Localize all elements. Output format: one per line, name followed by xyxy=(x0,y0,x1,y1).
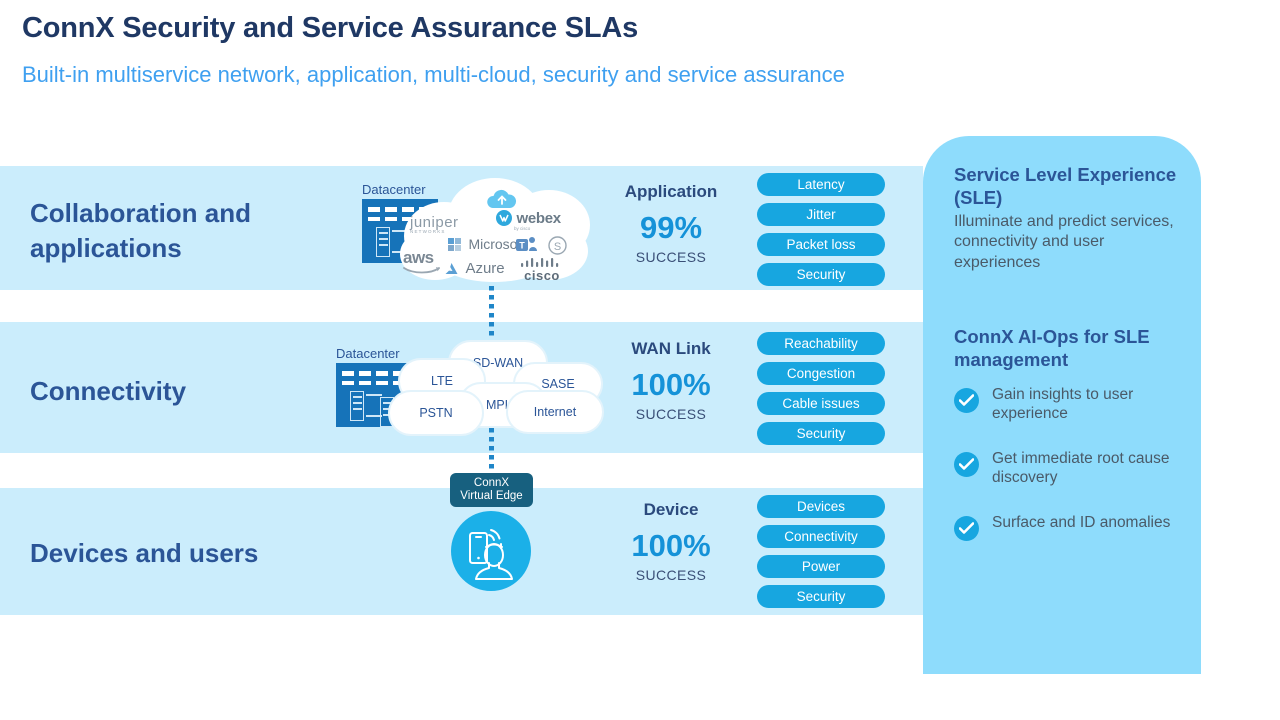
check-circle-icon xyxy=(954,388,979,413)
svg-text:S: S xyxy=(554,241,561,253)
sla-pill[interactable]: Security xyxy=(757,263,885,286)
kpi-value: 100% xyxy=(596,528,746,564)
sla-pills-application: Latency Jitter Packet loss Security xyxy=(757,173,885,293)
sle-sidebar-panel: Service Level Experience (SLE) Illuminat… xyxy=(923,136,1201,674)
sla-pills-wan-link: Reachability Congestion Cable issues Sec… xyxy=(757,332,885,452)
benefit-text: Get immediate root cause discovery xyxy=(992,450,1169,486)
kpi-name: Device xyxy=(596,500,746,520)
list-item: Gain insights to user experience xyxy=(954,386,1194,423)
kpi-application: Application 99% SUCCESS xyxy=(596,182,746,265)
wan-clouds-graphic: SD-WAN SASE LTE MPLS PSTN Internet xyxy=(388,340,603,445)
cloud-internet: Internet xyxy=(506,390,604,434)
sla-pill[interactable]: Packet loss xyxy=(757,233,885,256)
kpi-name: Application xyxy=(596,182,746,202)
sla-pill[interactable]: Security xyxy=(757,585,885,608)
row-label-devices: Devices and users xyxy=(30,536,360,571)
azure-logo-text: Azure xyxy=(465,260,504,277)
kpi-status: SUCCESS xyxy=(596,249,746,265)
webex-logo-text: webex xyxy=(516,210,560,227)
kpi-name: WAN Link xyxy=(596,339,746,359)
connx-virtual-edge-badge[interactable]: ConnX Virtual Edge xyxy=(450,473,533,507)
sla-pill[interactable]: Reachability xyxy=(757,332,885,355)
sla-pill[interactable]: Devices xyxy=(757,495,885,518)
list-item: Surface and ID anomalies xyxy=(954,514,1194,533)
check-circle-icon xyxy=(954,516,979,541)
row-label-connectivity: Connectivity xyxy=(30,374,350,409)
microsoft-teams-logo: T xyxy=(516,236,538,259)
skype-logo: S xyxy=(548,236,567,260)
sla-pill[interactable]: Connectivity xyxy=(757,525,885,548)
cloud-pstn: PSTN xyxy=(388,390,484,436)
sle-body-text: Illuminate and predict services, connect… xyxy=(954,212,1176,273)
user-with-smartphone-icon xyxy=(451,511,531,591)
kpi-value: 100% xyxy=(596,367,746,403)
cisco-logo: cisco xyxy=(520,258,564,283)
kpi-device: Device 100% SUCCESS xyxy=(596,500,746,583)
svg-text:T: T xyxy=(519,241,525,251)
aws-logo-text: aws xyxy=(403,248,434,267)
juniper-networks-logo: juniper NETWORKS xyxy=(410,214,459,234)
page-subtitle: Built-in multiservice network, applicati… xyxy=(22,62,845,88)
sla-pill[interactable]: Latency xyxy=(757,173,885,196)
sla-pill[interactable]: Jitter xyxy=(757,203,885,226)
benefit-text: Gain insights to user experience xyxy=(992,386,1133,422)
kpi-status: SUCCESS xyxy=(596,567,746,583)
kpi-value: 99% xyxy=(596,210,746,246)
sle-heading: Service Level Experience (SLE) xyxy=(954,164,1179,209)
benefit-text: Surface and ID anomalies xyxy=(992,514,1170,531)
virtual-edge-line1: ConnX xyxy=(474,477,509,490)
list-item: Get immediate root cause discovery xyxy=(954,450,1194,487)
multicloud-application-graphic: juniper NETWORKS webex by cisco aws Micr… xyxy=(400,178,590,283)
slide-canvas: ConnX Security and Service Assurance SLA… xyxy=(0,0,1280,720)
sla-pill[interactable]: Congestion xyxy=(757,362,885,385)
webex-by-cisco-logo: webex by cisco xyxy=(496,210,561,231)
azure-logo: Azure xyxy=(445,260,505,278)
sla-pill[interactable]: Security xyxy=(757,422,885,445)
aiops-heading: ConnX AI-Ops for SLE management xyxy=(954,326,1179,371)
sla-pill[interactable]: Power xyxy=(757,555,885,578)
page-title: ConnX Security and Service Assurance SLA… xyxy=(22,12,638,45)
kpi-wan-link: WAN Link 100% SUCCESS xyxy=(596,339,746,422)
sla-pills-device: Devices Connectivity Power Security xyxy=(757,495,885,615)
virtual-edge-line2: Virtual Edge xyxy=(460,490,522,503)
kpi-status: SUCCESS xyxy=(596,406,746,422)
check-circle-icon xyxy=(954,452,979,477)
row-label-collaboration: Collaboration and applications xyxy=(30,196,350,266)
cisco-logo-text: cisco xyxy=(520,268,564,283)
aws-logo: aws xyxy=(403,248,441,275)
aiops-benefit-list: Gain insights to user experience Get imm… xyxy=(954,386,1194,560)
microsoft-logo: Microsoft xyxy=(448,236,525,254)
sla-pill[interactable]: Cable issues xyxy=(757,392,885,415)
